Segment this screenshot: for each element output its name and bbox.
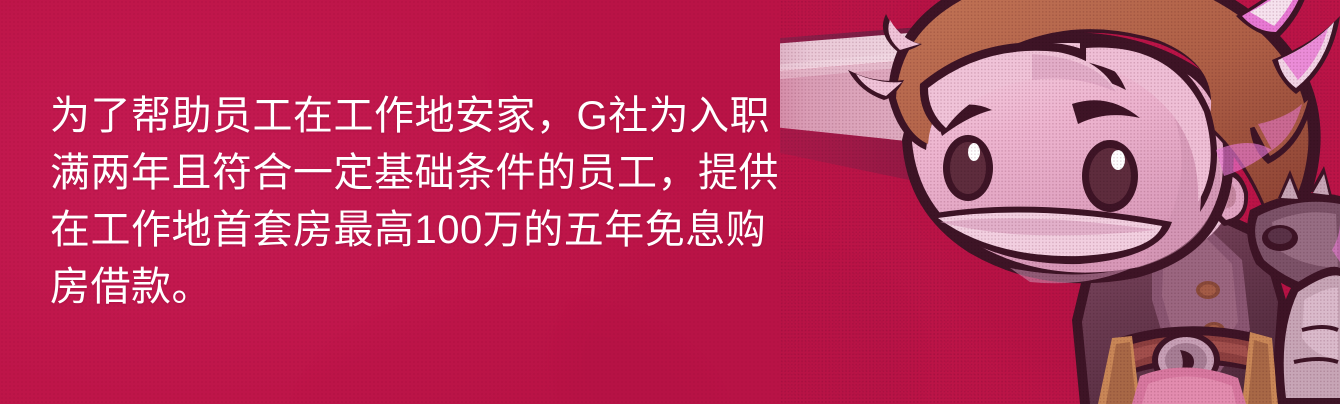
banner-body-text: 为了帮助员工在工作地安家，G社为入职 满两年且符合一定基础条件的员工，提供 在工… [50,88,810,316]
promo-banner: 为了帮助员工在工作地安家，G社为入职 满两年且符合一定基础条件的员工，提供 在工… [0,0,1340,404]
